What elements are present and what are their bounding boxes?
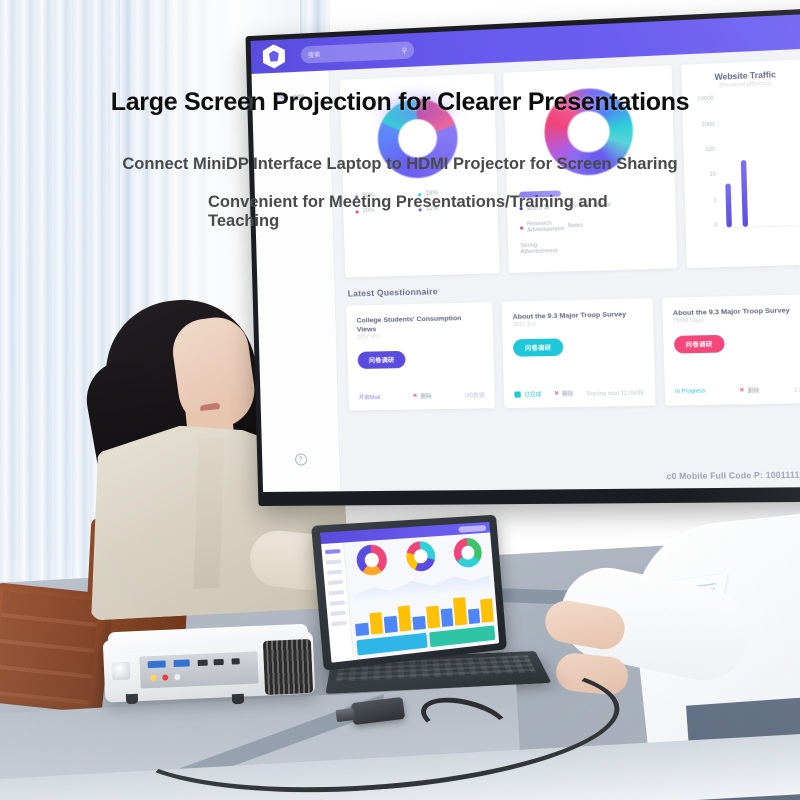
- search-icon: ⚲: [402, 46, 407, 54]
- laptop-dashboard: [344, 533, 499, 661]
- y-tick: 1000: [691, 121, 715, 128]
- questionnaire-card[interactable]: College Students' Consumption Views 2017…: [346, 302, 495, 410]
- questionnaire-meta: 1.2万: [794, 385, 800, 394]
- close-x-icon: ✕: [739, 388, 744, 394]
- close-x-icon: ✕: [413, 393, 418, 399]
- y-tick: 0: [694, 223, 718, 230]
- scene-photo: 搜索 ⚲ ✎ 编辑 ?: [0, 0, 800, 800]
- search-input[interactable]: 搜索 ⚲: [301, 41, 415, 63]
- y-tick: 100: [692, 147, 716, 154]
- questionnaire-meta: 0份数据: [464, 391, 484, 399]
- questionnaire-row: College Students' Consumption Views 2017…: [336, 294, 800, 411]
- questionnaire-delete[interactable]: ✕ 删除: [413, 392, 432, 400]
- projected-screen: 搜索 ⚲ ✎ 编辑 ?: [245, 8, 800, 506]
- screen-bezel: 搜索 ⚲ ✎ 编辑 ?: [245, 8, 800, 506]
- questionnaire-meta: Starting total 12,000份: [586, 388, 644, 397]
- delete-label: 删除: [562, 389, 574, 397]
- search-placeholder: 搜索: [308, 50, 321, 60]
- projector-lens: [112, 662, 131, 681]
- bar: [725, 184, 732, 228]
- laptop-donut-row: [348, 537, 489, 577]
- close-x-icon: ✕: [554, 391, 559, 397]
- questionnaire-status[interactable]: 开启Mail: [359, 393, 381, 401]
- legend-item: Strong Advertisement: [520, 242, 567, 256]
- questionnaire-card[interactable]: About the 9.3 Major Troop Survey Three D…: [662, 294, 800, 406]
- questionnaire-card[interactable]: About the 9.3 Major Troop Survey 2017-9-…: [502, 298, 656, 408]
- questionnaire-footer: 开启Mail ✕ 删除 0份数据: [358, 377, 485, 402]
- questionnaire-delete[interactable]: ✕ 删除: [554, 389, 574, 398]
- marketing-subline: Connect MiniDP Interface Laptop to HDMI …: [0, 155, 800, 174]
- sidebar-rail: ✎ 编辑 ?: [252, 70, 342, 492]
- laptop-lid: [311, 515, 507, 671]
- questionnaire-button[interactable]: 问卷调研: [674, 335, 725, 354]
- laptop-donut-3: [452, 537, 482, 568]
- person-left-lapel: [193, 437, 224, 589]
- questionnaire-footer: In Progress ✕ 删除 1.2万: [675, 371, 800, 396]
- screen-surface: 搜索 ⚲ ✎ 编辑 ?: [251, 14, 800, 492]
- hexagon-logo-icon: [263, 44, 286, 69]
- laptop-screen-body: [321, 533, 499, 663]
- y-tick: 1: [693, 197, 717, 204]
- laptop-donut-2: [405, 540, 436, 572]
- questionnaire-delete[interactable]: ✕ 删除: [739, 386, 759, 395]
- legend-label: Strong Advertisement: [520, 242, 567, 256]
- question-circle-icon[interactable]: ?: [294, 453, 306, 465]
- checkbox-checked-icon: [515, 391, 521, 397]
- delete-label: 删除: [747, 386, 759, 395]
- laptop-donut-1: [356, 544, 389, 577]
- projector-foot-left: [126, 694, 138, 705]
- marketing-subline-2: Convenient for Meeting Presentations/Tra…: [208, 193, 678, 232]
- questionnaire-status[interactable]: In Progress: [675, 388, 705, 395]
- marketing-headline: Large Screen Projection for Clearer Pres…: [0, 88, 800, 117]
- questionnaire-button[interactable]: 问卷调研: [513, 338, 563, 356]
- questionnaire-footer: 已完成 ✕ 删除 Starting total 12,000份: [514, 374, 644, 399]
- status-label: 已完成: [524, 390, 541, 398]
- delete-label: 删除: [420, 392, 431, 400]
- screen-watermark: c0 Mobile Full Code P: 10011111: [667, 470, 800, 481]
- questionnaire-status[interactable]: 已完成: [515, 390, 542, 399]
- questionnaire-button[interactable]: 问卷调研: [357, 351, 405, 369]
- laptop-screen: [320, 522, 499, 663]
